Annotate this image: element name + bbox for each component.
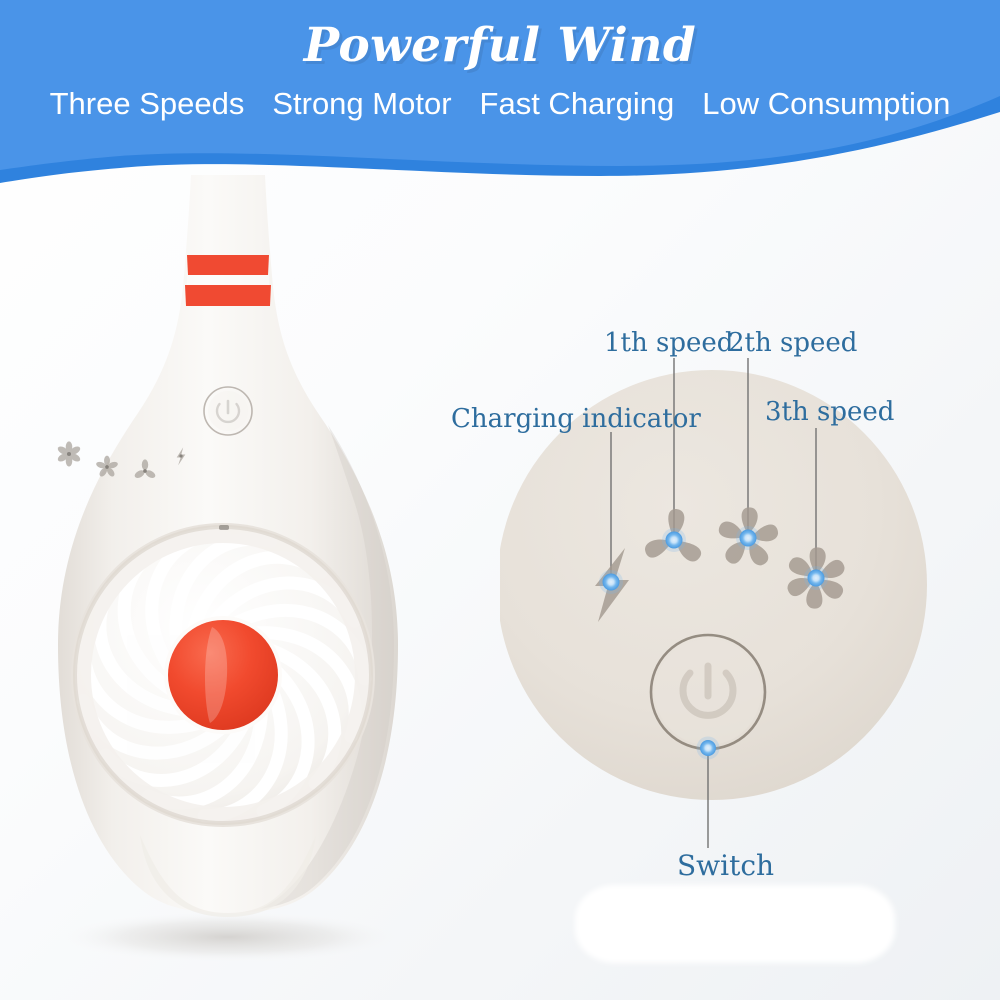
label-speed-1: 1th speed bbox=[604, 330, 733, 356]
product-power-button[interactable] bbox=[204, 387, 252, 435]
fan-6-blade-icon bbox=[56, 441, 81, 466]
label-charging-indicator: Charging indicator bbox=[451, 406, 701, 432]
header-banner: Powerful Wind Three Speeds Strong Motor … bbox=[0, 0, 1000, 186]
product-stripe-lower bbox=[185, 285, 271, 306]
infographic-canvas: Powerful Wind Three Speeds Strong Motor … bbox=[0, 0, 1000, 1000]
feature-item-1: Strong Motor bbox=[272, 86, 451, 122]
feature-list: Three Speeds Strong Motor Fast Charging … bbox=[0, 86, 1000, 122]
feature-item-2: Fast Charging bbox=[480, 86, 675, 122]
product-image-mini-fan bbox=[28, 175, 458, 975]
retouch-patch bbox=[575, 885, 895, 963]
stripe-highlight bbox=[187, 275, 269, 285]
control-panel-detail bbox=[500, 300, 970, 940]
feature-item-3: Low Consumption bbox=[702, 86, 950, 122]
label-speed-3: 3th speed bbox=[765, 399, 894, 425]
page-title: Powerful Wind bbox=[0, 18, 1000, 73]
product-stripe-upper bbox=[187, 255, 269, 275]
label-switch: Switch bbox=[677, 852, 774, 880]
feature-item-0: Three Speeds bbox=[50, 86, 245, 122]
product-shadow bbox=[53, 911, 403, 963]
label-speed-2: 2th speed bbox=[728, 330, 857, 356]
